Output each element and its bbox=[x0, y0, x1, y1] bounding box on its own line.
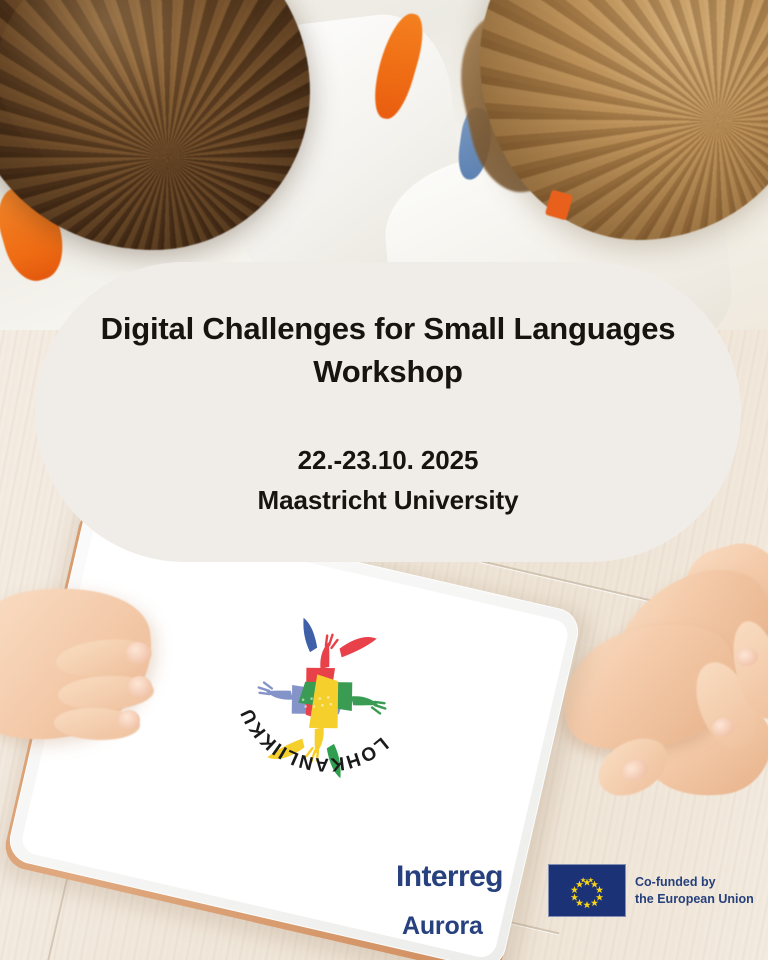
eu-funding-line-1: Co-funded by bbox=[635, 874, 754, 891]
aurora-wordmark: Aurora bbox=[402, 914, 503, 939]
funding-footer: Interreg Aurora bbox=[396, 862, 756, 954]
interreg-logo: Interreg Aurora bbox=[396, 862, 503, 939]
eu-flag-icon bbox=[548, 864, 626, 917]
interreg-wordmark: Interreg bbox=[396, 862, 503, 892]
event-venue: Maastricht University bbox=[258, 480, 519, 520]
poster-root: LOHKANLIIKKU Digital Challenges for Smal… bbox=[0, 0, 768, 960]
event-date: 22.-23.10. 2025 bbox=[258, 440, 519, 480]
fingernail bbox=[128, 676, 152, 698]
eu-funding-line-2: the European Union bbox=[635, 891, 754, 908]
fingernail bbox=[118, 710, 140, 730]
headline-pill: Digital Challenges for Small Languages W… bbox=[35, 262, 741, 562]
event-details: 22.-23.10. 2025 Maastricht University bbox=[258, 440, 519, 521]
fingernail bbox=[126, 642, 150, 664]
eu-funding-logo: Co-funded by the European Union bbox=[548, 864, 754, 917]
page-title: Digital Challenges for Small Languages W… bbox=[58, 308, 718, 394]
eu-funding-text: Co-funded by the European Union bbox=[635, 874, 754, 908]
